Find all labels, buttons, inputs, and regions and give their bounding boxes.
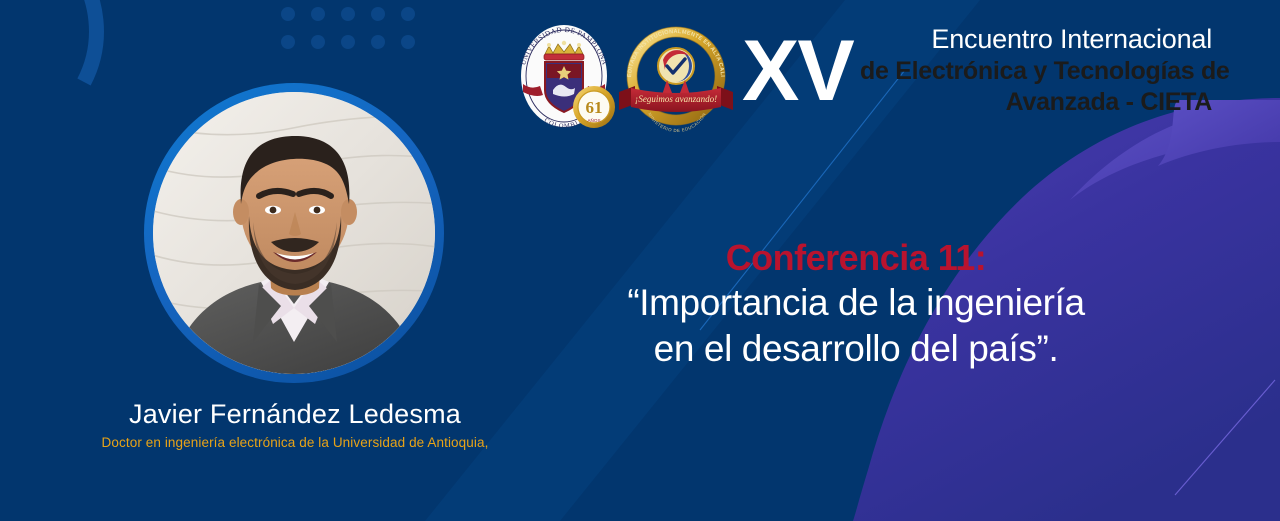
conference-number-label: Conferencia 11: bbox=[576, 236, 1136, 280]
conference-title-line-1: “Importancia de la ingeniería bbox=[576, 280, 1136, 326]
speaker-name: Javier Fernández Ledesma bbox=[30, 398, 560, 431]
anniversary-badge-61: 61 AÑOS bbox=[573, 86, 615, 128]
conference-info-block: Conferencia 11: “Importancia de la ingen… bbox=[576, 236, 1136, 372]
event-edition-numeral: XV bbox=[742, 28, 853, 114]
badge-subtext: AÑOS bbox=[587, 117, 600, 123]
event-title-line-3: Avanzada - CIETA bbox=[860, 87, 1212, 118]
event-title-block: XV Encuentro Internacional de Electrónic… bbox=[742, 22, 1212, 137]
speaker-photo-ring bbox=[144, 83, 444, 383]
logo-acreditacion-alta-calidad: ACREDITADA INSTITUCIONALMENTE EN ALTA CA… bbox=[617, 18, 735, 133]
ribbon-banner: ¡Seguimos avanzando! bbox=[619, 86, 733, 112]
speaker-info-block: Javier Fernández Ledesma Doctor en ingen… bbox=[30, 398, 560, 452]
ribbon-text: ¡Seguimos avanzando! bbox=[635, 94, 717, 104]
speaker-photo bbox=[153, 92, 435, 374]
speaker-credential: Doctor en ingeniería electrónica de la U… bbox=[30, 434, 560, 452]
event-title-line-1: Encuentro Internacional bbox=[860, 22, 1212, 56]
conference-banner: UNIVERSIDAD DE PAMPLONA COLOMBIA bbox=[0, 0, 1280, 521]
badge-number-text: 61 bbox=[586, 98, 603, 117]
event-title-lines: Encuentro Internacional de Electrónica y… bbox=[860, 22, 1212, 118]
conference-title-line-2: en el desarrollo del país”. bbox=[576, 326, 1136, 372]
event-title-line-2: de Electrónica y Tecnologías de bbox=[860, 56, 1212, 87]
medal-icon bbox=[658, 48, 694, 84]
logo-universidad-pamplona: UNIVERSIDAD DE PAMPLONA COLOMBIA bbox=[505, 18, 623, 136]
